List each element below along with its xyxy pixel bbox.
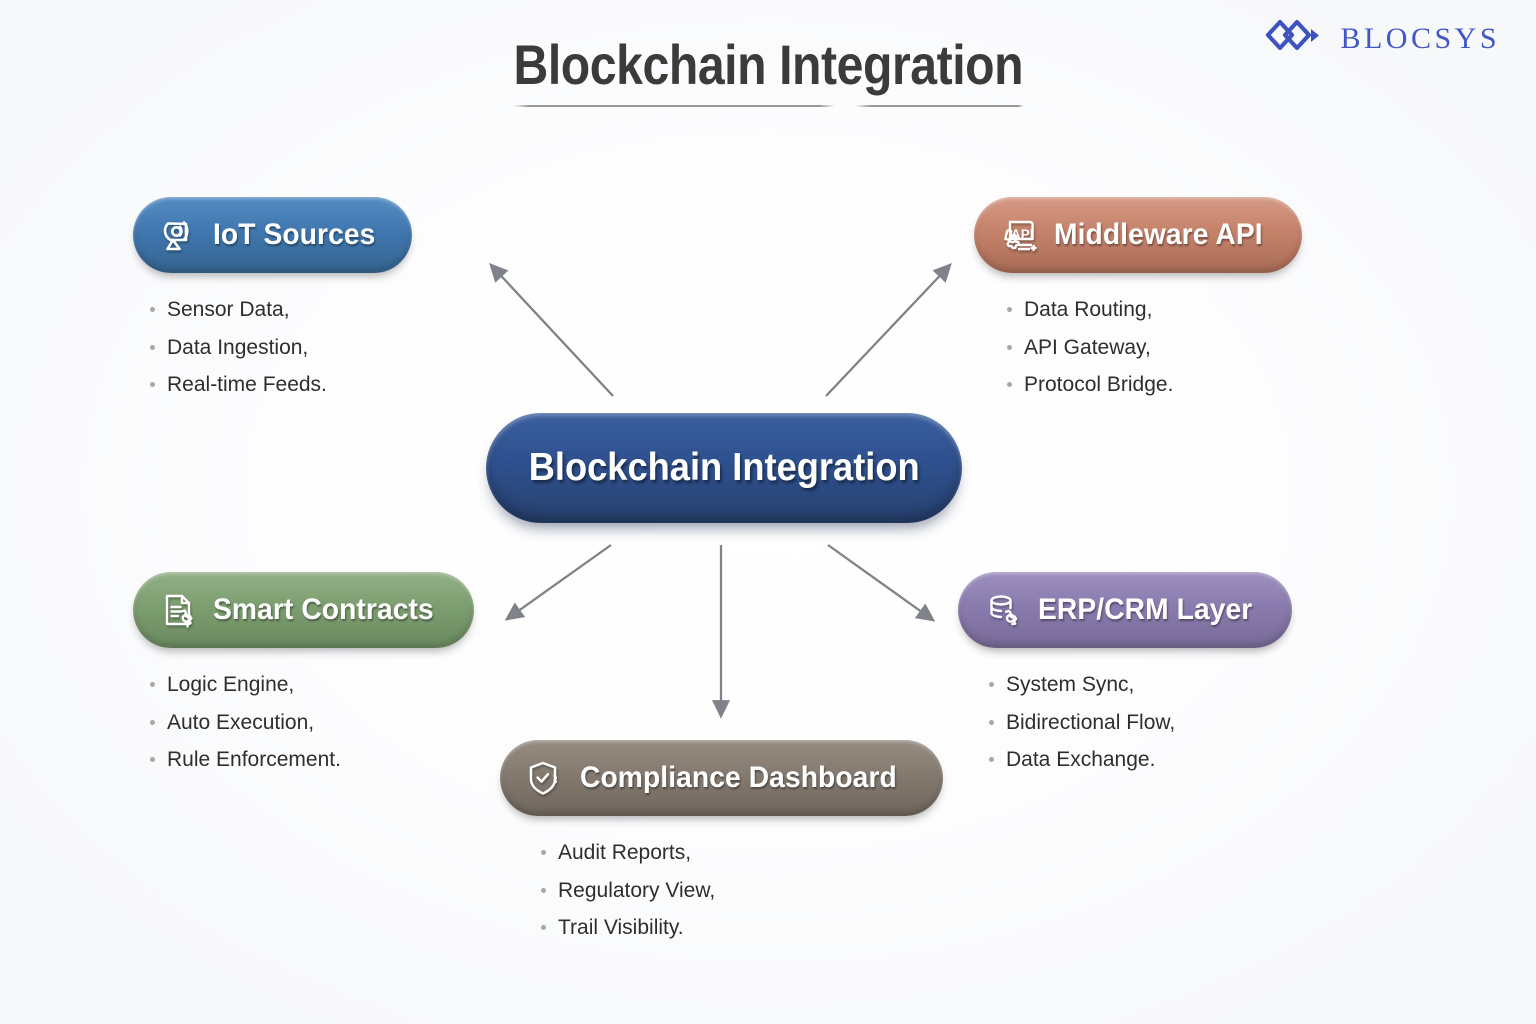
- list-item: Logic Engine,: [167, 666, 474, 704]
- node-iot-sources-label: IoT Sources: [213, 218, 375, 252]
- node-iot-sources[interactable]: IoT Sources Sensor Data, Data Ingestion,…: [133, 197, 412, 404]
- node-middleware-api-pill[interactable]: API Middleware API: [974, 197, 1302, 273]
- list-item: System Sync,: [1006, 666, 1292, 704]
- arrow-center-to-middleware: [826, 265, 950, 396]
- list-item: Data Exchange.: [1006, 741, 1292, 779]
- node-iot-sources-pill[interactable]: IoT Sources: [133, 197, 412, 273]
- node-iot-sources-bullets: Sensor Data, Data Ingestion, Real-time F…: [133, 291, 412, 404]
- list-item: Rule Enforcement.: [167, 741, 474, 779]
- node-erp-crm-layer-pill[interactable]: ERP/CRM Layer: [958, 572, 1292, 648]
- api-gear-icon: API: [996, 212, 1042, 258]
- list-item: Data Ingestion,: [167, 329, 412, 367]
- list-item: Protocol Bridge.: [1024, 366, 1302, 404]
- list-item: Regulatory View,: [558, 872, 943, 910]
- list-item: Real-time Feeds.: [167, 366, 412, 404]
- list-item: Trail Visibility.: [558, 909, 943, 947]
- node-compliance-dashboard-pill[interactable]: Compliance Dashboard: [500, 740, 943, 816]
- node-smart-contracts[interactable]: Smart Contracts Logic Engine, Auto Execu…: [133, 572, 474, 779]
- list-item: Auto Execution,: [167, 704, 474, 742]
- arrow-center-to-iot: [491, 265, 613, 396]
- list-item: Audit Reports,: [558, 834, 943, 872]
- node-erp-crm-layer[interactable]: ERP/CRM Layer System Sync, Bidirectional…: [958, 572, 1292, 779]
- shield-check-icon: [522, 755, 568, 801]
- node-smart-contracts-label: Smart Contracts: [213, 593, 434, 627]
- page-title: Blockchain Integration: [513, 32, 1023, 109]
- node-middleware-api-bullets: Data Routing, API Gateway, Protocol Brid…: [974, 291, 1302, 404]
- node-compliance-dashboard[interactable]: Compliance Dashboard Audit Reports, Regu…: [500, 740, 943, 947]
- node-compliance-dashboard-bullets: Audit Reports, Regulatory View, Trail Vi…: [500, 834, 943, 947]
- arrow-center-to-smart: [507, 545, 611, 619]
- node-middleware-api-label: Middleware API: [1054, 218, 1263, 252]
- iot-camera-icon: [155, 212, 201, 258]
- center-node-label: Blockchain Integration: [529, 446, 920, 490]
- list-item: Data Routing,: [1024, 291, 1302, 329]
- list-item: Sensor Data,: [167, 291, 412, 329]
- node-compliance-dashboard-label: Compliance Dashboard: [580, 761, 897, 795]
- page-title-wrap: Blockchain Integration: [0, 32, 1536, 109]
- arrow-center-to-erp: [828, 545, 933, 620]
- database-gear-icon: [980, 587, 1026, 633]
- list-item: API Gateway,: [1024, 329, 1302, 367]
- node-erp-crm-layer-label: ERP/CRM Layer: [1038, 593, 1252, 627]
- diagram-canvas: BLOCSYS Blockchain Integration Blockchai…: [0, 0, 1536, 1024]
- center-node[interactable]: Blockchain Integration: [486, 413, 962, 523]
- document-gear-icon: [155, 587, 201, 633]
- node-middleware-api[interactable]: API Middleware API Data Routing, API Gat…: [974, 197, 1302, 404]
- list-item: Bidirectional Flow,: [1006, 704, 1292, 742]
- node-smart-contracts-pill[interactable]: Smart Contracts: [133, 572, 474, 648]
- node-erp-crm-layer-bullets: System Sync, Bidirectional Flow, Data Ex…: [958, 666, 1292, 779]
- node-smart-contracts-bullets: Logic Engine, Auto Execution, Rule Enfor…: [133, 666, 474, 779]
